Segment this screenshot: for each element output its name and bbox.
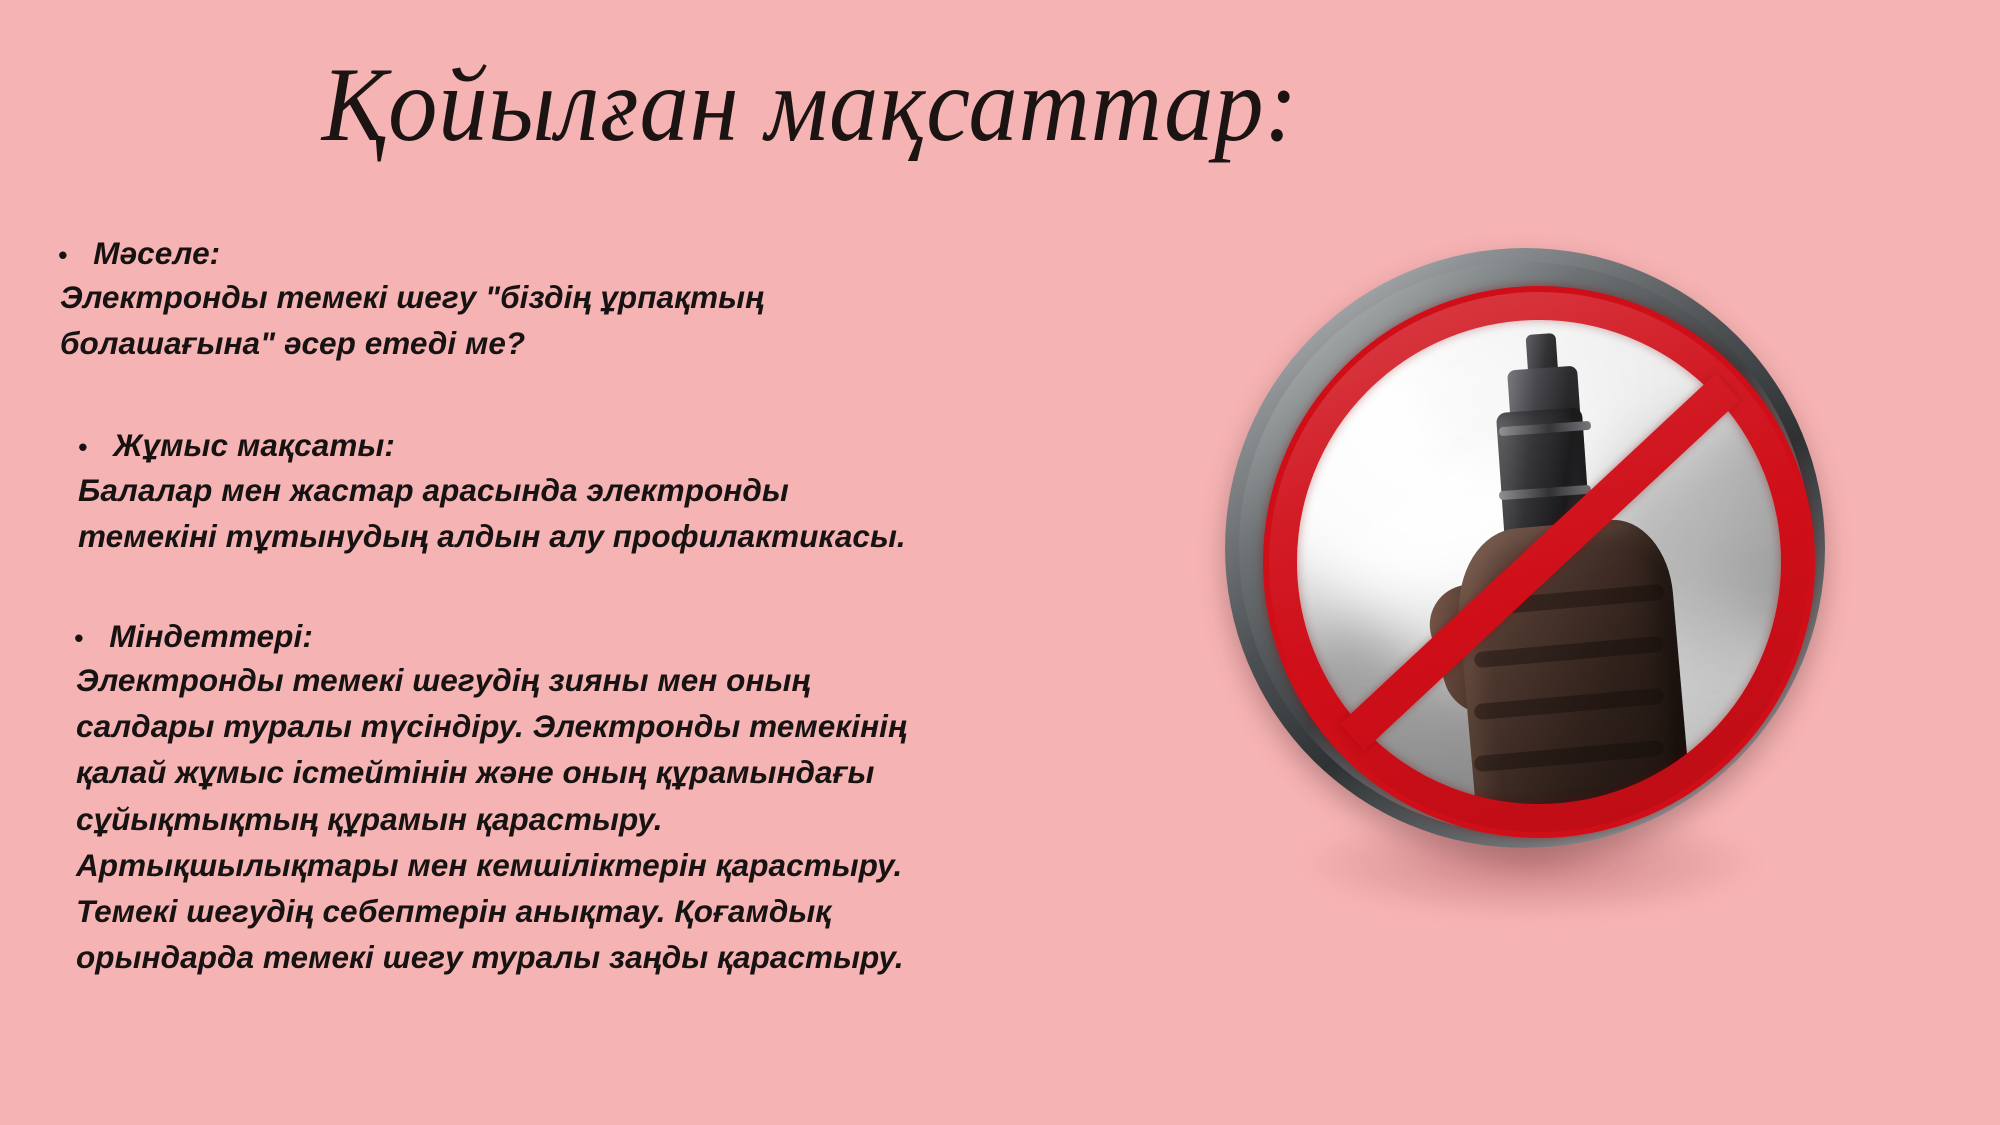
bullet-point-icon: • xyxy=(58,242,67,268)
content-body: • Мәселе: Электронды темекі шегу "біздің… xyxy=(0,232,1100,980)
bullet-heading-1: • Мәселе: xyxy=(0,232,1100,274)
section-paragraph-2: Балалар мен жастар арасында электронды т… xyxy=(0,467,1100,559)
bullet-heading-3: • Міндеттері: xyxy=(0,615,1100,657)
section-paragraph-3: Электронды темекі шегудің зияны мен оның… xyxy=(0,657,1100,980)
section-spacer-2 xyxy=(0,559,1100,615)
bullet-point-icon: • xyxy=(78,434,87,460)
bullet-point-icon: • xyxy=(74,625,83,651)
section-label-2: Жұмыс мақсаты: xyxy=(113,424,395,466)
no-vaping-sign-image xyxy=(1225,248,1825,848)
slide-title: Қойылған мақсаттар: xyxy=(57,48,1564,162)
section-paragraph-1: Электронды темекі шегу "біздің ұрпақтың … xyxy=(0,274,1100,366)
sign-inner-bezel xyxy=(1239,262,1811,834)
presentation-slide: Қойылған мақсаттар: • Мәселе: Электронды… xyxy=(0,0,2000,1125)
content-section-3: • Міндеттері: Электронды темекі шегудің … xyxy=(0,615,1100,980)
content-section-2: • Жұмыс мақсаты: Балалар мен жастар арас… xyxy=(0,424,1100,558)
section-label-3: Міндеттері: xyxy=(109,615,313,657)
sign-outer-bezel xyxy=(1225,248,1825,848)
content-section-1: • Мәселе: Электронды темекі шегу "біздің… xyxy=(0,232,1100,366)
section-label-1: Мәселе: xyxy=(93,232,220,274)
bullet-heading-2: • Жұмыс мақсаты: xyxy=(0,424,1100,466)
section-spacer-1 xyxy=(0,366,1100,424)
